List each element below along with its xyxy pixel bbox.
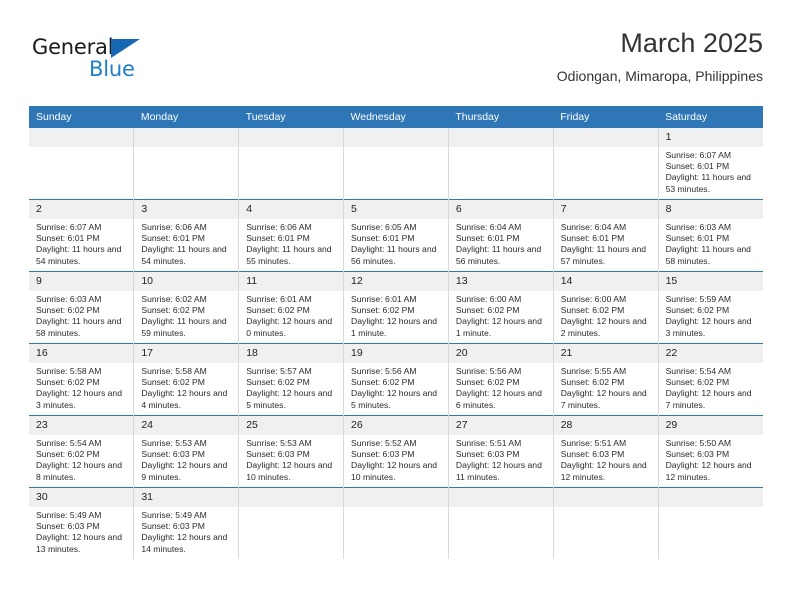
day-number: 7 [554,200,658,219]
day-sun-details: Sunrise: 5:54 AMSunset: 6:02 PMDaylight:… [659,363,763,411]
calendar-day-cell[interactable]: 17Sunrise: 5:58 AMSunset: 6:02 PMDayligh… [134,344,239,416]
day-number: 12 [344,272,448,291]
sunrise-text: Sunrise: 5:49 AM [141,510,232,521]
daylight-text: Daylight: 11 hours and 59 minutes. [141,316,232,338]
day-number: 1 [659,128,763,147]
page-subtitle: Odiongan, Mimaropa, Philippines [557,68,763,84]
day-number: 11 [239,272,343,291]
calendar-day-cell[interactable]: 5Sunrise: 6:05 AMSunset: 6:01 PMDaylight… [344,200,449,272]
day-number [134,128,238,147]
weekday-header-monday: Monday [134,106,239,128]
sunrise-text: Sunrise: 6:06 AM [141,222,232,233]
calendar-page: General Blue March 2025 Odiongan, Mimaro… [0,0,792,612]
daylight-text: Daylight: 11 hours and 58 minutes. [666,244,757,266]
daylight-text: Daylight: 12 hours and 1 minute. [351,316,442,338]
day-sun-details: Sunrise: 5:58 AMSunset: 6:02 PMDaylight:… [29,363,133,411]
day-number: 30 [29,488,133,507]
day-sun-details: Sunrise: 5:49 AMSunset: 6:03 PMDaylight:… [29,507,133,555]
day-sun-details: Sunrise: 6:00 AMSunset: 6:02 PMDaylight:… [554,291,658,339]
daylight-text: Daylight: 12 hours and 10 minutes. [246,460,337,482]
sunrise-text: Sunrise: 6:06 AM [246,222,337,233]
calendar-day-cell[interactable]: 27Sunrise: 5:51 AMSunset: 6:03 PMDayligh… [448,416,553,488]
sunrise-text: Sunrise: 5:56 AM [456,366,547,377]
day-sun-details: Sunrise: 6:05 AMSunset: 6:01 PMDaylight:… [344,219,448,267]
day-number [239,128,343,147]
day-number: 27 [449,416,553,435]
day-number: 6 [449,200,553,219]
weekday-header-friday: Friday [553,106,658,128]
daylight-text: Daylight: 12 hours and 3 minutes. [666,316,757,338]
day-sun-details: Sunrise: 5:57 AMSunset: 6:02 PMDaylight:… [239,363,343,411]
calendar-day-cell[interactable]: 19Sunrise: 5:56 AMSunset: 6:02 PMDayligh… [344,344,449,416]
day-number: 22 [659,344,763,363]
sunrise-text: Sunrise: 6:03 AM [36,294,127,305]
daylight-text: Daylight: 12 hours and 14 minutes. [141,532,232,554]
sunset-text: Sunset: 6:02 PM [456,377,547,388]
day-sun-details: Sunrise: 6:03 AMSunset: 6:02 PMDaylight:… [29,291,133,339]
day-sun-details: Sunrise: 6:04 AMSunset: 6:01 PMDaylight:… [449,219,553,267]
calendar-day-cell[interactable]: 3Sunrise: 6:06 AMSunset: 6:01 PMDaylight… [134,200,239,272]
calendar-header-row: Sunday Monday Tuesday Wednesday Thursday… [29,106,763,128]
day-number: 25 [239,416,343,435]
daylight-text: Daylight: 12 hours and 5 minutes. [246,388,337,410]
sunrise-text: Sunrise: 6:05 AM [351,222,442,233]
sunrise-text: Sunrise: 5:51 AM [561,438,652,449]
day-number: 4 [239,200,343,219]
day-sun-details: Sunrise: 6:04 AMSunset: 6:01 PMDaylight:… [554,219,658,267]
logo-text-blue: Blue [89,59,135,80]
day-number: 8 [659,200,763,219]
daylight-text: Daylight: 12 hours and 3 minutes. [36,388,127,410]
daylight-text: Daylight: 11 hours and 54 minutes. [141,244,232,266]
sunset-text: Sunset: 6:02 PM [456,305,547,316]
calendar-cell-empty [448,128,553,200]
calendar-day-cell[interactable]: 31Sunrise: 5:49 AMSunset: 6:03 PMDayligh… [134,488,239,560]
daylight-text: Daylight: 11 hours and 56 minutes. [351,244,442,266]
day-number: 29 [659,416,763,435]
sunset-text: Sunset: 6:03 PM [246,449,337,460]
day-number: 16 [29,344,133,363]
daylight-text: Daylight: 12 hours and 6 minutes. [456,388,547,410]
calendar-day-cell[interactable]: 1Sunrise: 6:07 AMSunset: 6:01 PMDaylight… [658,128,763,200]
sunset-text: Sunset: 6:03 PM [36,521,127,532]
calendar-day-cell[interactable]: 2Sunrise: 6:07 AMSunset: 6:01 PMDaylight… [29,200,134,272]
sunrise-text: Sunrise: 5:52 AM [351,438,442,449]
daylight-text: Daylight: 12 hours and 10 minutes. [351,460,442,482]
calendar-week-row: 23Sunrise: 5:54 AMSunset: 6:02 PMDayligh… [29,416,763,488]
day-number: 15 [659,272,763,291]
sunset-text: Sunset: 6:02 PM [36,377,127,388]
sunset-text: Sunset: 6:03 PM [351,449,442,460]
day-number [449,128,553,147]
calendar-cell-empty [239,488,344,560]
calendar-cell-empty [344,128,449,200]
general-blue-logo: General Blue [32,37,212,93]
calendar-cell-empty [658,488,763,560]
daylight-text: Daylight: 12 hours and 12 minutes. [666,460,757,482]
day-sun-details: Sunrise: 6:00 AMSunset: 6:02 PMDaylight:… [449,291,553,339]
weekday-header-tuesday: Tuesday [239,106,344,128]
calendar-body: 1Sunrise: 6:07 AMSunset: 6:01 PMDaylight… [29,128,763,559]
page-title: March 2025 [557,28,763,59]
day-sun-details: Sunrise: 6:07 AMSunset: 6:01 PMDaylight:… [659,147,763,195]
calendar-day-cell[interactable]: 21Sunrise: 5:55 AMSunset: 6:02 PMDayligh… [553,344,658,416]
day-number: 3 [134,200,238,219]
sunset-text: Sunset: 6:03 PM [141,521,232,532]
daylight-text: Daylight: 12 hours and 1 minute. [456,316,547,338]
sunset-text: Sunset: 6:02 PM [351,305,442,316]
calendar-cell-empty [239,128,344,200]
day-number: 21 [554,344,658,363]
sunrise-text: Sunrise: 5:54 AM [36,438,127,449]
sunset-text: Sunset: 6:03 PM [561,449,652,460]
day-number [239,488,343,507]
day-sun-details: Sunrise: 5:56 AMSunset: 6:02 PMDaylight:… [344,363,448,411]
day-sun-details: Sunrise: 5:52 AMSunset: 6:03 PMDaylight:… [344,435,448,483]
sunrise-text: Sunrise: 5:53 AM [141,438,232,449]
day-number: 28 [554,416,658,435]
day-sun-details: Sunrise: 6:02 AMSunset: 6:02 PMDaylight:… [134,291,238,339]
calendar-day-cell[interactable]: 6Sunrise: 6:04 AMSunset: 6:01 PMDaylight… [448,200,553,272]
title-block: March 2025 Odiongan, Mimaropa, Philippin… [557,28,763,84]
daylight-text: Daylight: 11 hours and 54 minutes. [36,244,127,266]
sunrise-text: Sunrise: 5:57 AM [246,366,337,377]
sunrise-text: Sunrise: 6:00 AM [456,294,547,305]
calendar-week-row: 9Sunrise: 6:03 AMSunset: 6:02 PMDaylight… [29,272,763,344]
sunset-text: Sunset: 6:03 PM [141,449,232,460]
logo-triangle-icon [111,39,140,58]
calendar-day-cell[interactable]: 22Sunrise: 5:54 AMSunset: 6:02 PMDayligh… [658,344,763,416]
daylight-text: Daylight: 12 hours and 4 minutes. [141,388,232,410]
sunrise-text: Sunrise: 6:04 AM [456,222,547,233]
day-sun-details: Sunrise: 5:53 AMSunset: 6:03 PMDaylight:… [134,435,238,483]
calendar-day-cell[interactable]: 13Sunrise: 6:00 AMSunset: 6:02 PMDayligh… [448,272,553,344]
calendar-day-cell[interactable]: 15Sunrise: 5:59 AMSunset: 6:02 PMDayligh… [658,272,763,344]
daylight-text: Daylight: 12 hours and 11 minutes. [456,460,547,482]
day-number: 2 [29,200,133,219]
sunset-text: Sunset: 6:01 PM [141,233,232,244]
day-number: 31 [134,488,238,507]
daylight-text: Daylight: 12 hours and 12 minutes. [561,460,652,482]
weekday-header-wednesday: Wednesday [344,106,449,128]
sunset-text: Sunset: 6:01 PM [666,161,757,172]
sunset-text: Sunset: 6:02 PM [666,377,757,388]
sunset-text: Sunset: 6:03 PM [666,449,757,460]
daylight-text: Daylight: 12 hours and 2 minutes. [561,316,652,338]
day-number [29,128,133,147]
calendar-day-cell[interactable]: 14Sunrise: 6:00 AMSunset: 6:02 PMDayligh… [553,272,658,344]
weekday-header-thursday: Thursday [448,106,553,128]
day-number: 19 [344,344,448,363]
day-number: 26 [344,416,448,435]
day-number: 17 [134,344,238,363]
calendar-cell-empty [344,488,449,560]
sunset-text: Sunset: 6:01 PM [561,233,652,244]
day-sun-details: Sunrise: 6:01 AMSunset: 6:02 PMDaylight:… [344,291,448,339]
sunset-text: Sunset: 6:02 PM [666,305,757,316]
daylight-text: Daylight: 12 hours and 7 minutes. [666,388,757,410]
day-number [659,488,763,507]
day-sun-details: Sunrise: 5:51 AMSunset: 6:03 PMDaylight:… [449,435,553,483]
weekday-header-sunday: Sunday [29,106,134,128]
sunrise-text: Sunrise: 5:55 AM [561,366,652,377]
calendar-day-cell[interactable]: 23Sunrise: 5:54 AMSunset: 6:02 PMDayligh… [29,416,134,488]
day-number: 18 [239,344,343,363]
calendar-week-row: 1Sunrise: 6:07 AMSunset: 6:01 PMDaylight… [29,128,763,200]
calendar-week-row: 2Sunrise: 6:07 AMSunset: 6:01 PMDaylight… [29,200,763,272]
sunset-text: Sunset: 6:02 PM [561,305,652,316]
sunset-text: Sunset: 6:01 PM [246,233,337,244]
calendar-day-cell[interactable]: 7Sunrise: 6:04 AMSunset: 6:01 PMDaylight… [553,200,658,272]
day-sun-details: Sunrise: 5:49 AMSunset: 6:03 PMDaylight:… [134,507,238,555]
calendar-cell-empty [448,488,553,560]
sunrise-text: Sunrise: 6:02 AM [141,294,232,305]
sunrise-text: Sunrise: 5:58 AM [36,366,127,377]
daylight-text: Daylight: 12 hours and 5 minutes. [351,388,442,410]
sunrise-text: Sunrise: 5:49 AM [36,510,127,521]
sunrise-text: Sunrise: 5:59 AM [666,294,757,305]
sunrise-text: Sunrise: 5:58 AM [141,366,232,377]
day-sun-details: Sunrise: 5:54 AMSunset: 6:02 PMDaylight:… [29,435,133,483]
day-number [344,128,448,147]
day-number [554,128,658,147]
day-number: 24 [134,416,238,435]
sunrise-text: Sunrise: 6:01 AM [246,294,337,305]
sunset-text: Sunset: 6:02 PM [36,305,127,316]
calendar-day-cell[interactable]: 24Sunrise: 5:53 AMSunset: 6:03 PMDayligh… [134,416,239,488]
day-sun-details: Sunrise: 6:07 AMSunset: 6:01 PMDaylight:… [29,219,133,267]
calendar-week-row: 16Sunrise: 5:58 AMSunset: 6:02 PMDayligh… [29,344,763,416]
sunset-text: Sunset: 6:01 PM [36,233,127,244]
day-number [554,488,658,507]
day-number: 5 [344,200,448,219]
day-number: 10 [134,272,238,291]
day-number: 13 [449,272,553,291]
sunrise-text: Sunrise: 5:54 AM [666,366,757,377]
page-header: General Blue March 2025 Odiongan, Mimaro… [29,28,763,100]
sunset-text: Sunset: 6:02 PM [141,377,232,388]
calendar-cell-empty [553,488,658,560]
sunset-text: Sunset: 6:02 PM [246,377,337,388]
sunrise-text: Sunrise: 6:00 AM [561,294,652,305]
calendar-day-cell[interactable]: 12Sunrise: 6:01 AMSunset: 6:02 PMDayligh… [344,272,449,344]
calendar-week-row: 30Sunrise: 5:49 AMSunset: 6:03 PMDayligh… [29,488,763,560]
sunset-text: Sunset: 6:01 PM [456,233,547,244]
calendar-day-cell[interactable]: 20Sunrise: 5:56 AMSunset: 6:02 PMDayligh… [448,344,553,416]
sunrise-text: Sunrise: 5:50 AM [666,438,757,449]
sunrise-text: Sunrise: 5:51 AM [456,438,547,449]
sunset-text: Sunset: 6:02 PM [351,377,442,388]
daylight-text: Daylight: 11 hours and 56 minutes. [456,244,547,266]
sunrise-text: Sunrise: 6:07 AM [666,150,757,161]
daylight-text: Daylight: 12 hours and 7 minutes. [561,388,652,410]
calendar-day-cell[interactable]: 8Sunrise: 6:03 AMSunset: 6:01 PMDaylight… [658,200,763,272]
sunset-text: Sunset: 6:02 PM [141,305,232,316]
sunset-text: Sunset: 6:01 PM [666,233,757,244]
calendar-cell-empty [29,128,134,200]
day-sun-details: Sunrise: 6:03 AMSunset: 6:01 PMDaylight:… [659,219,763,267]
daylight-text: Daylight: 12 hours and 13 minutes. [36,532,127,554]
daylight-text: Daylight: 12 hours and 0 minutes. [246,316,337,338]
daylight-text: Daylight: 11 hours and 57 minutes. [561,244,652,266]
sunset-text: Sunset: 6:02 PM [561,377,652,388]
sunrise-text: Sunrise: 6:07 AM [36,222,127,233]
calendar-day-cell[interactable]: 29Sunrise: 5:50 AMSunset: 6:03 PMDayligh… [658,416,763,488]
day-number [449,488,553,507]
month-calendar-table: Sunday Monday Tuesday Wednesday Thursday… [29,106,763,559]
sunrise-text: Sunrise: 5:53 AM [246,438,337,449]
calendar-cell-empty [553,128,658,200]
sunrise-text: Sunrise: 5:56 AM [351,366,442,377]
day-sun-details: Sunrise: 5:53 AMSunset: 6:03 PMDaylight:… [239,435,343,483]
day-sun-details: Sunrise: 5:58 AMSunset: 6:02 PMDaylight:… [134,363,238,411]
day-number: 20 [449,344,553,363]
daylight-text: Daylight: 11 hours and 53 minutes. [666,172,757,194]
weekday-header-saturday: Saturday [658,106,763,128]
day-sun-details: Sunrise: 5:51 AMSunset: 6:03 PMDaylight:… [554,435,658,483]
day-sun-details: Sunrise: 6:06 AMSunset: 6:01 PMDaylight:… [134,219,238,267]
sunset-text: Sunset: 6:03 PM [456,449,547,460]
sunset-text: Sunset: 6:01 PM [351,233,442,244]
day-number: 14 [554,272,658,291]
calendar-day-cell[interactable]: 18Sunrise: 5:57 AMSunset: 6:02 PMDayligh… [239,344,344,416]
day-number: 9 [29,272,133,291]
sunset-text: Sunset: 6:02 PM [246,305,337,316]
daylight-text: Daylight: 12 hours and 8 minutes. [36,460,127,482]
day-number: 23 [29,416,133,435]
day-sun-details: Sunrise: 6:01 AMSunset: 6:02 PMDaylight:… [239,291,343,339]
logo-text-general: General [32,37,113,58]
day-sun-details: Sunrise: 5:55 AMSunset: 6:02 PMDaylight:… [554,363,658,411]
sunrise-text: Sunrise: 6:03 AM [666,222,757,233]
calendar-day-cell[interactable]: 28Sunrise: 5:51 AMSunset: 6:03 PMDayligh… [553,416,658,488]
calendar-day-cell[interactable]: 10Sunrise: 6:02 AMSunset: 6:02 PMDayligh… [134,272,239,344]
sunrise-text: Sunrise: 6:01 AM [351,294,442,305]
sunset-text: Sunset: 6:02 PM [36,449,127,460]
daylight-text: Daylight: 11 hours and 58 minutes. [36,316,127,338]
daylight-text: Daylight: 12 hours and 9 minutes. [141,460,232,482]
day-number [344,488,448,507]
daylight-text: Daylight: 11 hours and 55 minutes. [246,244,337,266]
calendar-day-cell[interactable]: 4Sunrise: 6:06 AMSunset: 6:01 PMDaylight… [239,200,344,272]
calendar-day-cell[interactable]: 25Sunrise: 5:53 AMSunset: 6:03 PMDayligh… [239,416,344,488]
day-sun-details: Sunrise: 5:50 AMSunset: 6:03 PMDaylight:… [659,435,763,483]
calendar-day-cell[interactable]: 9Sunrise: 6:03 AMSunset: 6:02 PMDaylight… [29,272,134,344]
sunrise-text: Sunrise: 6:04 AM [561,222,652,233]
day-sun-details: Sunrise: 5:56 AMSunset: 6:02 PMDaylight:… [449,363,553,411]
calendar-day-cell[interactable]: 11Sunrise: 6:01 AMSunset: 6:02 PMDayligh… [239,272,344,344]
calendar-day-cell[interactable]: 30Sunrise: 5:49 AMSunset: 6:03 PMDayligh… [29,488,134,560]
day-sun-details: Sunrise: 5:59 AMSunset: 6:02 PMDaylight:… [659,291,763,339]
calendar-day-cell[interactable]: 16Sunrise: 5:58 AMSunset: 6:02 PMDayligh… [29,344,134,416]
calendar-day-cell[interactable]: 26Sunrise: 5:52 AMSunset: 6:03 PMDayligh… [344,416,449,488]
day-sun-details: Sunrise: 6:06 AMSunset: 6:01 PMDaylight:… [239,219,343,267]
calendar-cell-empty [134,128,239,200]
